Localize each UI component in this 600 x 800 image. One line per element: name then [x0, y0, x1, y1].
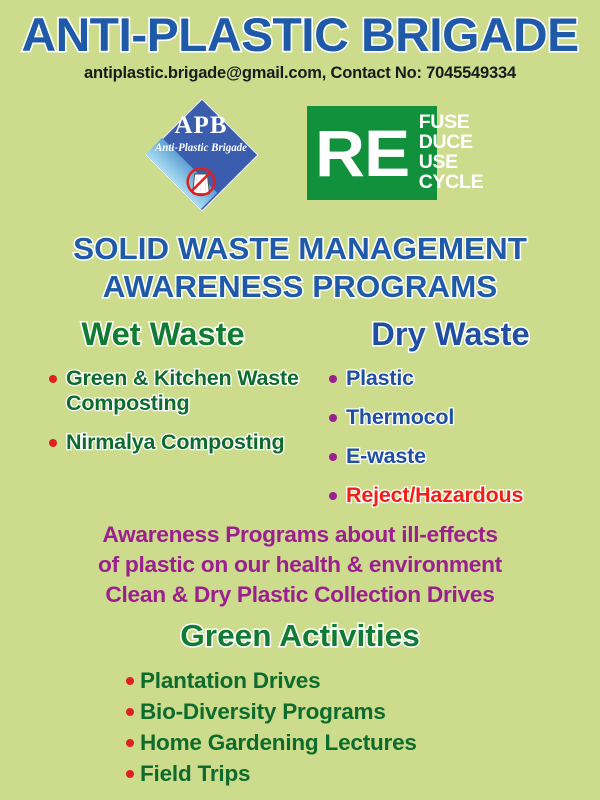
- green-activity-label: Plantation Drives: [140, 668, 320, 693]
- dry-waste-list: Plastic Thermocol E-waste Reject/Hazardo…: [308, 366, 593, 508]
- list-item: Bio-Diversity Programs: [140, 698, 600, 726]
- dry-waste-item-label: Thermocol: [346, 405, 454, 429]
- green-activities-title: Green Activities: [0, 620, 600, 651]
- bullet-icon: [126, 739, 134, 747]
- re-suffix-cycle: CYCLE: [419, 173, 484, 193]
- poster-canvas: ANTI-PLASTIC BRIGADE antiplastic.brigade…: [0, 0, 600, 800]
- bullet-icon: [329, 414, 337, 422]
- apb-logo: APB Anti-Plastic Brigade: [145, 98, 257, 210]
- bullet-icon: [49, 439, 57, 447]
- list-item: Nirmalya Composting: [66, 430, 308, 455]
- poster-title: ANTI-PLASTIC BRIGADE: [0, 10, 600, 59]
- list-item: Green & Kitchen Waste Composting: [66, 366, 308, 416]
- green-activity-label: Field Trips: [140, 761, 250, 786]
- wet-waste-item-label: Nirmalya Composting: [66, 430, 284, 454]
- awareness-line-1: Awareness Programs about ill-effects: [0, 520, 600, 550]
- bullet-icon: [126, 770, 134, 778]
- bullet-icon: [49, 375, 57, 383]
- list-item: Field Trips: [140, 760, 600, 788]
- dry-waste-title: Dry Waste: [305, 318, 596, 350]
- main-heading: SOLID WASTE MANAGEMENT AWARENESS PROGRAM…: [0, 230, 600, 306]
- wet-waste-list: Green & Kitchen Waste Composting Nirmaly…: [18, 366, 308, 455]
- apb-abbreviation: APB: [145, 112, 257, 140]
- reduce-reuse-recycle-logo: RE FUSE DUCE USE CYCLE: [305, 104, 439, 202]
- dry-waste-item-label: E-waste: [346, 444, 426, 468]
- list-item: Thermocol: [346, 405, 593, 430]
- contact-line: antiplastic.brigade@gmail.com, Contact N…: [0, 64, 600, 83]
- dry-waste-item-label: Plastic: [346, 366, 414, 390]
- re-suffix-stack: FUSE DUCE USE CYCLE: [419, 113, 484, 193]
- logo-row: APB Anti-Plastic Brigade RE FUSE DUCE US…: [0, 98, 600, 210]
- dry-waste-column: Dry Waste Plastic Thermocol E-waste Reje…: [308, 318, 593, 522]
- bullet-icon: [126, 708, 134, 716]
- re-suffix-use: USE: [419, 153, 484, 173]
- green-activities-list: Plantation Drives Bio-Diversity Programs…: [0, 667, 600, 789]
- bullet-icon: [329, 492, 337, 500]
- bullet-icon: [329, 453, 337, 461]
- no-plastic-bag-icon: [180, 160, 222, 202]
- awareness-line-2: of plastic on our health & environment: [0, 550, 600, 580]
- dry-waste-item-label: Reject/Hazardous: [346, 483, 523, 507]
- re-prefix: RE: [315, 126, 409, 180]
- list-item: Home Gardening Lectures: [140, 729, 600, 757]
- list-item: E-waste: [346, 444, 593, 469]
- bullet-icon: [126, 677, 134, 685]
- list-item: Reject/Hazardous: [346, 483, 593, 508]
- green-activities-section: Green Activities Plantation Drives Bio-D…: [0, 620, 600, 792]
- main-heading-line-2: AWARENESS PROGRAMS: [0, 268, 600, 306]
- list-item: Plastic: [346, 366, 593, 391]
- apb-full-name: Anti-Plastic Brigade: [148, 142, 254, 154]
- wet-waste-column: Wet Waste Green & Kitchen Waste Composti…: [18, 318, 308, 469]
- bullet-icon: [329, 375, 337, 383]
- waste-categories: Wet Waste Green & Kitchen Waste Composti…: [0, 318, 600, 518]
- awareness-line-3: Clean & Dry Plastic Collection Drives: [0, 580, 600, 610]
- list-item: Plantation Drives: [140, 667, 600, 695]
- wet-waste-title: Wet Waste: [15, 318, 311, 350]
- awareness-statement: Awareness Programs about ill-effects of …: [0, 520, 600, 610]
- main-heading-line-1: SOLID WASTE MANAGEMENT: [0, 230, 600, 268]
- green-activity-label: Home Gardening Lectures: [140, 730, 417, 755]
- wet-waste-item-label: Green & Kitchen Waste Composting: [66, 366, 299, 415]
- green-activity-label: Bio-Diversity Programs: [140, 699, 386, 724]
